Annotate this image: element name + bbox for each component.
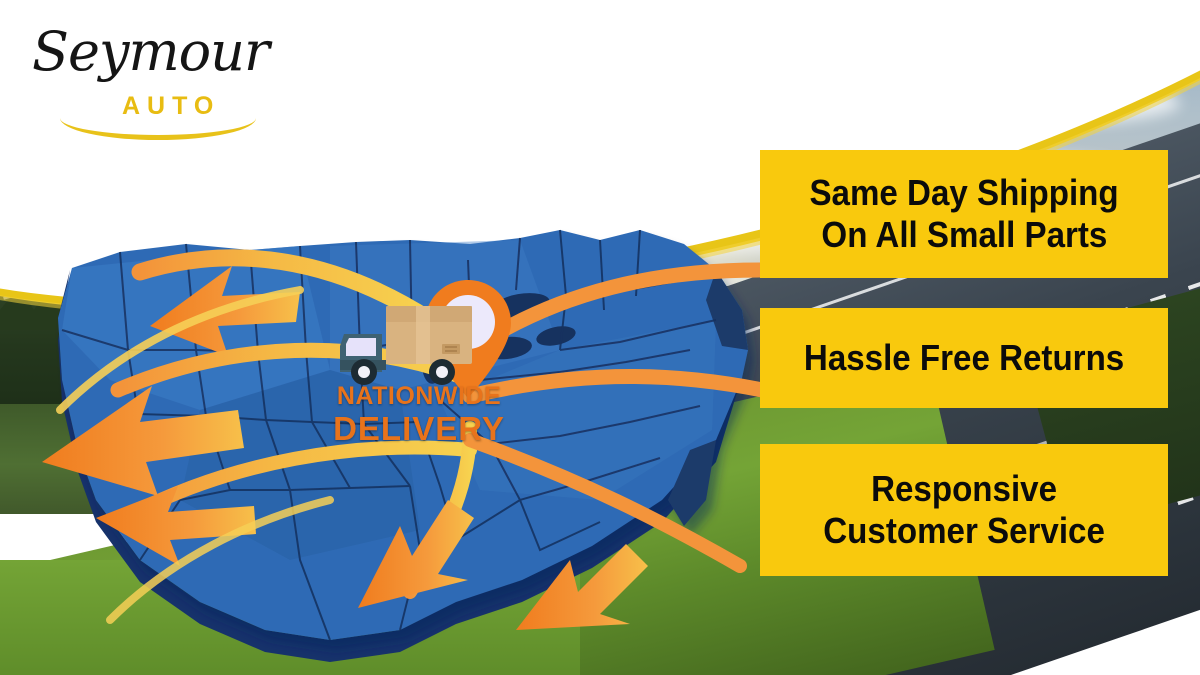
nationwide-delivery-badge: NATIONWIDE DELIVERY (320, 278, 520, 450)
claim-box-same-day-shipping[interactable]: Same Day Shipping On All Small Parts (760, 150, 1168, 278)
claim-box-responsive-customer-service[interactable]: Responsive Customer Service (760, 444, 1168, 576)
marketing-banner: Seymour AUTO (0, 0, 1200, 675)
logo-wordmark: Seymour (32, 20, 269, 83)
claim-line: On All Small Parts (821, 214, 1107, 256)
badge-caption-line1: NATIONWIDE (326, 384, 512, 409)
badge-caption-line2: DELIVERY (326, 412, 512, 445)
logo-subtext: AUTO (122, 92, 220, 121)
claim-line: Same Day Shipping (809, 172, 1118, 214)
claim-line: Customer Service (823, 510, 1105, 552)
claim-box-hassle-free-returns[interactable]: Hassle Free Returns (760, 308, 1168, 408)
claim-line: Responsive (871, 468, 1057, 510)
badge-caption: NATIONWIDE DELIVERY (326, 384, 512, 445)
delivery-truck-icon (338, 304, 478, 390)
brand-logo[interactable]: Seymour AUTO (26, 18, 276, 128)
claim-line: Hassle Free Returns (804, 337, 1124, 379)
